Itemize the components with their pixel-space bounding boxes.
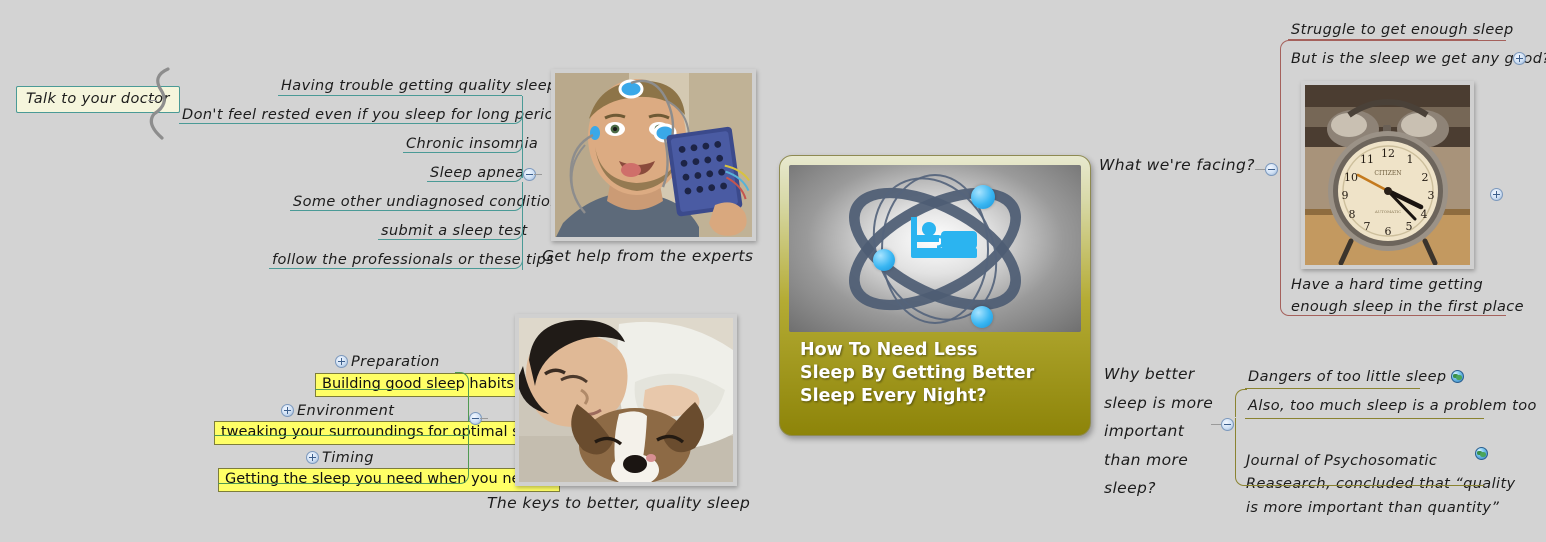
underline-why-0	[1245, 388, 1420, 389]
underline-keys-top	[315, 389, 456, 390]
collapse-toggle-facing[interactable]	[1265, 163, 1278, 176]
underline-experts-3	[427, 154, 523, 182]
globe-link-icon[interactable]	[1451, 370, 1464, 383]
svg-text:5: 5	[1406, 220, 1413, 233]
bracket-why-top	[1235, 389, 1247, 417]
svg-text:6: 6	[1385, 225, 1392, 238]
svg-text:9: 9	[1342, 189, 1349, 202]
node-keys-label-environment[interactable]: Environment	[297, 402, 394, 421]
node-facing-item-2[interactable]: Have a hard time getting enough sleep in…	[1291, 274, 1524, 318]
bracket-facing-bottom	[1280, 66, 1290, 316]
node-keys-detail-preparation[interactable]: Building good sleep habits	[315, 373, 521, 397]
svg-text:4: 4	[1421, 208, 1428, 221]
mindmap-canvas: How To Need Less Sleep By Getting Better…	[0, 0, 1546, 542]
central-topic-title: How To Need Less Sleep By Getting Better…	[789, 339, 1081, 408]
expand-toggle-timing[interactable]	[306, 451, 319, 464]
node-why-item-0-text: Dangers of too little sleep	[1248, 369, 1447, 385]
node-keys-label-preparation[interactable]: Preparation	[351, 353, 440, 372]
svg-text:12: 12	[1381, 147, 1395, 160]
photo-sleep-study[interactable]	[551, 69, 756, 241]
svg-text:CITIZEN: CITIZEN	[1374, 170, 1401, 177]
underline-experts-1	[179, 96, 523, 124]
underline-experts-5	[378, 212, 523, 240]
relationship-squiggle	[148, 66, 176, 146]
bracket-keys-bottom	[455, 452, 469, 484]
electron-top	[971, 185, 995, 209]
svg-text:10: 10	[1344, 171, 1358, 184]
underline-experts-4	[290, 183, 523, 211]
svg-text:AUTOMATIC: AUTOMATIC	[1374, 209, 1401, 214]
underline-keys-mid	[214, 435, 469, 436]
underline-why-2	[1245, 485, 1484, 486]
bed-icon	[911, 215, 979, 261]
bracket-why-bottom	[1235, 418, 1247, 486]
connector-facing-center	[1255, 169, 1265, 170]
node-why-item-2[interactable]: Journal of Psychosomatic Reasearch, conc…	[1246, 426, 1516, 520]
central-topic-node[interactable]: How To Need Less Sleep By Getting Better…	[779, 155, 1091, 436]
plus-icon-v	[287, 407, 289, 414]
underline-facing-2	[1288, 315, 1506, 316]
connector-why-center	[1211, 424, 1221, 425]
expand-toggle-environment[interactable]	[281, 404, 294, 417]
expand-toggle-facing-branch[interactable]	[1490, 188, 1503, 201]
node-facing-item-0[interactable]: Struggle to get enough sleep	[1291, 21, 1514, 40]
connector-keys-center	[480, 418, 488, 419]
central-topic-image	[789, 165, 1081, 332]
photo-alarm-clock[interactable]: 12 1 2 3 4 5 6 7 8 9 10 11 CITIZEN AUTOM…	[1301, 81, 1474, 269]
plus-icon-v	[341, 358, 343, 365]
svg-text:8: 8	[1349, 208, 1356, 221]
underline-facing-1	[1280, 40, 1506, 68]
underline-keys-bottom	[218, 483, 456, 484]
node-facing-label[interactable]: What we're facing?	[1099, 156, 1255, 175]
node-why-label[interactable]: Why better sleep is more important than …	[1104, 360, 1213, 503]
photo-sleeping-with-dog[interactable]	[515, 314, 737, 486]
svg-text:3: 3	[1428, 189, 1435, 202]
node-why-item-0[interactable]: Dangers of too little sleep	[1248, 368, 1464, 387]
node-keys-detail-timing[interactable]: Getting the sleep you need when you need…	[218, 468, 560, 492]
node-why-item-1[interactable]: Also, too much sleep is a problem too	[1248, 397, 1537, 416]
expand-toggle-preparation[interactable]	[335, 355, 348, 368]
svg-text:11: 11	[1360, 153, 1374, 166]
minus-icon	[472, 418, 479, 420]
plus-icon-v	[312, 454, 314, 461]
caption-keys[interactable]: The keys to better, quality sleep	[487, 494, 750, 513]
electron-left	[873, 249, 895, 271]
node-why-item-2-text: Journal of Psychosomatic Reasearch, conc…	[1246, 453, 1516, 516]
node-experts-item-0[interactable]: Having trouble getting quality sleep	[281, 77, 557, 96]
minus-icon	[1224, 424, 1231, 426]
node-keys-detail-environment[interactable]: tweaking your surroundings for optimal s…	[214, 421, 558, 445]
collapse-toggle-why[interactable]	[1221, 418, 1234, 431]
svg-text:2: 2	[1422, 171, 1429, 184]
caption-experts[interactable]: Get help from the experts	[542, 247, 753, 266]
minus-icon	[1268, 169, 1275, 171]
bracket-keys-top	[455, 372, 469, 390]
svg-text:1: 1	[1407, 153, 1414, 166]
electron-bottom	[971, 306, 993, 328]
plus-icon-v	[1519, 55, 1521, 62]
connector-experts-center	[534, 174, 542, 175]
underline-experts-2	[403, 125, 523, 153]
minus-icon	[526, 174, 533, 176]
globe-link-icon-2[interactable]	[1475, 447, 1488, 460]
svg-text:7: 7	[1364, 220, 1371, 233]
spine-experts-upper	[522, 96, 523, 178]
expand-toggle-facing-item-1[interactable]	[1513, 52, 1526, 65]
node-keys-label-timing[interactable]: Timing	[322, 449, 374, 468]
spine-experts-lower	[522, 182, 523, 270]
underline-why-1	[1245, 418, 1484, 419]
underline-experts-6	[269, 241, 523, 269]
plus-icon-v	[1496, 191, 1498, 198]
